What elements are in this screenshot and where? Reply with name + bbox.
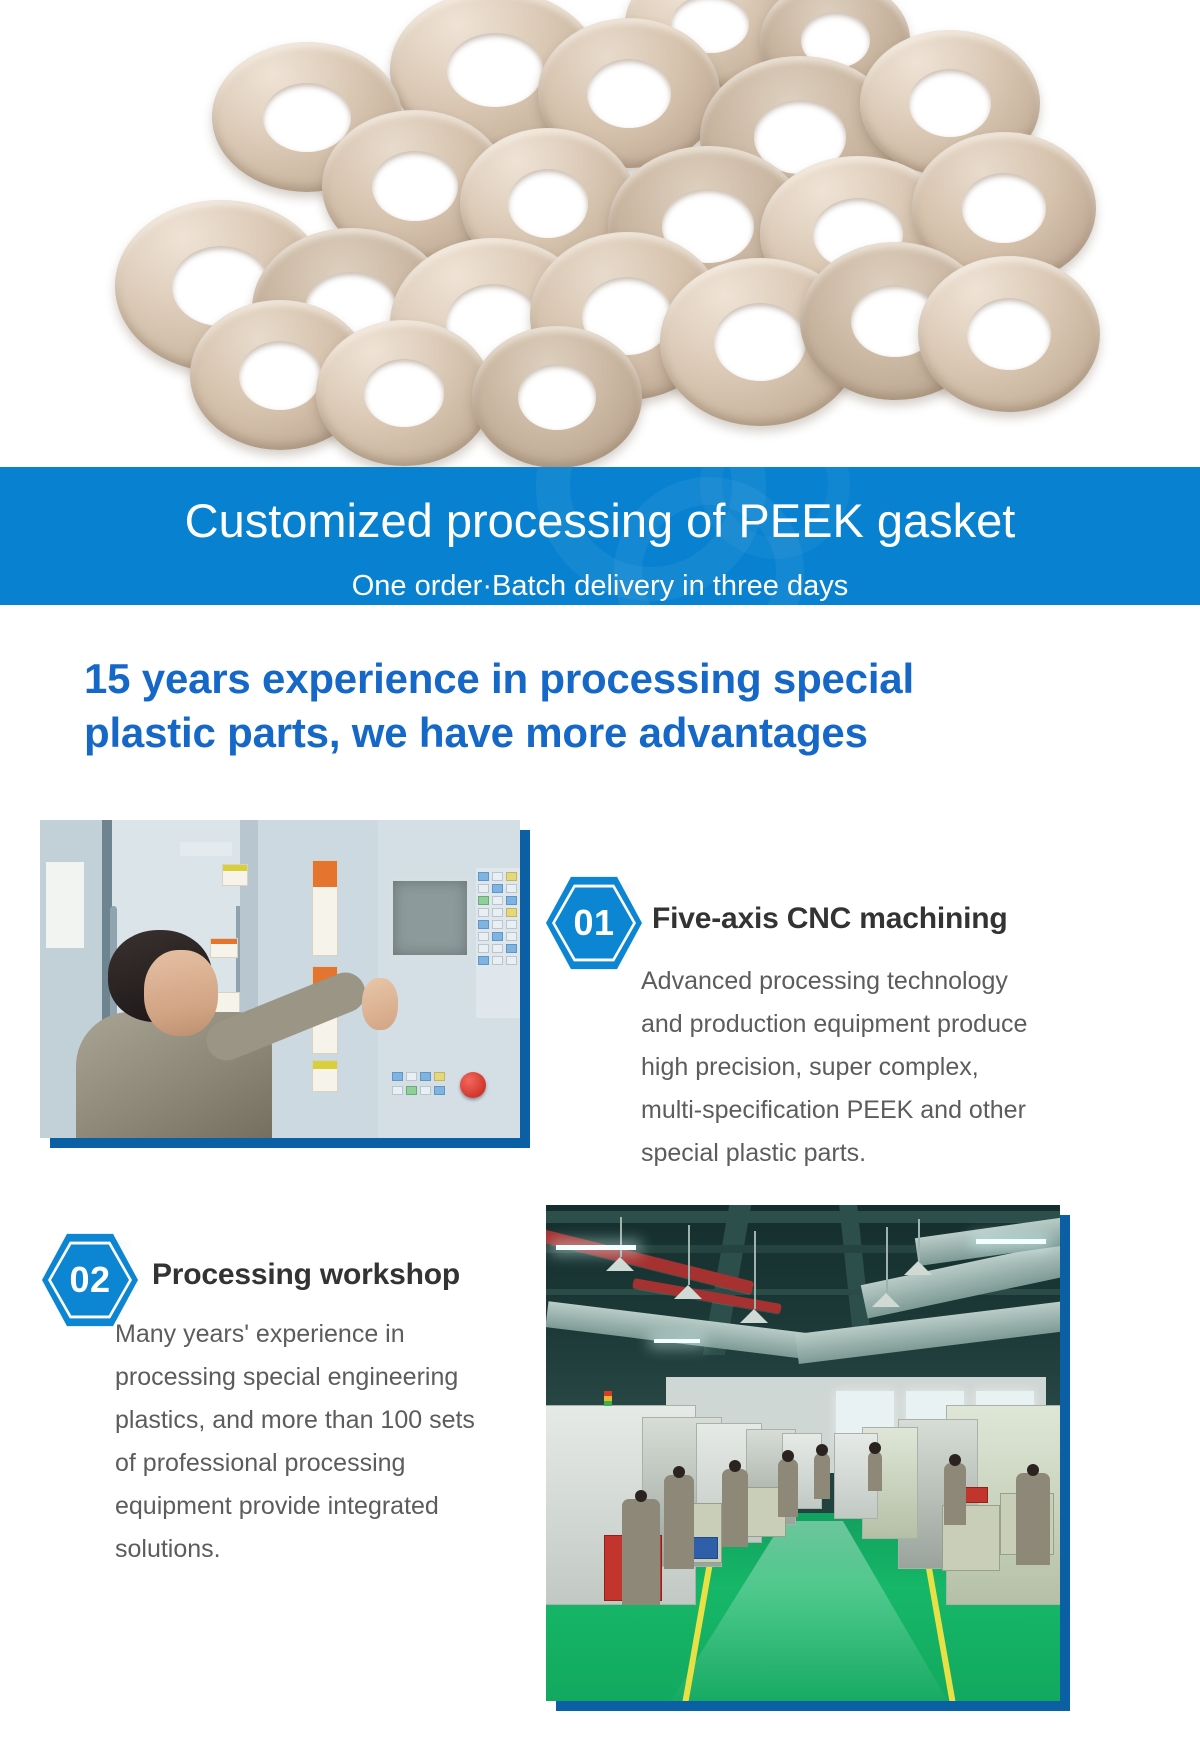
feature-01-body-line: Advanced processing technology <box>641 960 1071 1003</box>
feature-02-body-line: equipment provide integrated <box>115 1485 535 1528</box>
feature-02-body-line: of professional processing <box>115 1442 535 1485</box>
title-banner: Customized processing of PEEK gasket One… <box>0 467 1200 605</box>
feature-01-body-line: and production equipment produce <box>641 1003 1071 1046</box>
workshop-photo-frame <box>546 1205 1060 1701</box>
banner-subtitle: One order·Batch delivery in three days <box>0 544 1200 601</box>
section-heading-line-2: plastic parts, we have more advantages <box>84 706 1074 760</box>
feature-02-body: Many years' experience in processing spe… <box>115 1313 535 1571</box>
feature-01-body-line: special plastic parts. <box>641 1132 1071 1175</box>
section-heading: 15 years experience in processing specia… <box>84 652 1074 760</box>
feature-02-body-line: Many years' experience in <box>115 1313 535 1356</box>
hero-product-photo <box>0 0 1200 470</box>
cnc-photo-frame <box>40 820 520 1138</box>
banner-title: Customized processing of PEEK gasket <box>0 467 1200 544</box>
feature-02-body-line: plastics, and more than 100 sets <box>115 1399 535 1442</box>
feature-01-body-line: multi-specification PEEK and other <box>641 1089 1071 1132</box>
section-heading-line-1: 15 years experience in processing specia… <box>84 652 1074 706</box>
feature-02-body-line: processing special engineering <box>115 1356 535 1399</box>
feature-01-title: Five-axis CNC machining <box>652 902 1008 936</box>
feature-02-title: Processing workshop <box>152 1258 460 1292</box>
processing-workshop-photo <box>546 1205 1060 1701</box>
feature-01-body-line: high precision, super complex, <box>641 1046 1071 1089</box>
gasket-pile <box>60 0 1150 470</box>
feature-01-number: 01 <box>546 875 642 971</box>
feature-01-badge: 01 <box>546 875 642 971</box>
cnc-operator-photo <box>40 820 520 1138</box>
feature-02-body-line: solutions. <box>115 1528 535 1571</box>
product-marketing-page: Customized processing of PEEK gasket One… <box>0 0 1200 1748</box>
feature-01-body: Advanced processing technology and produ… <box>641 960 1071 1175</box>
